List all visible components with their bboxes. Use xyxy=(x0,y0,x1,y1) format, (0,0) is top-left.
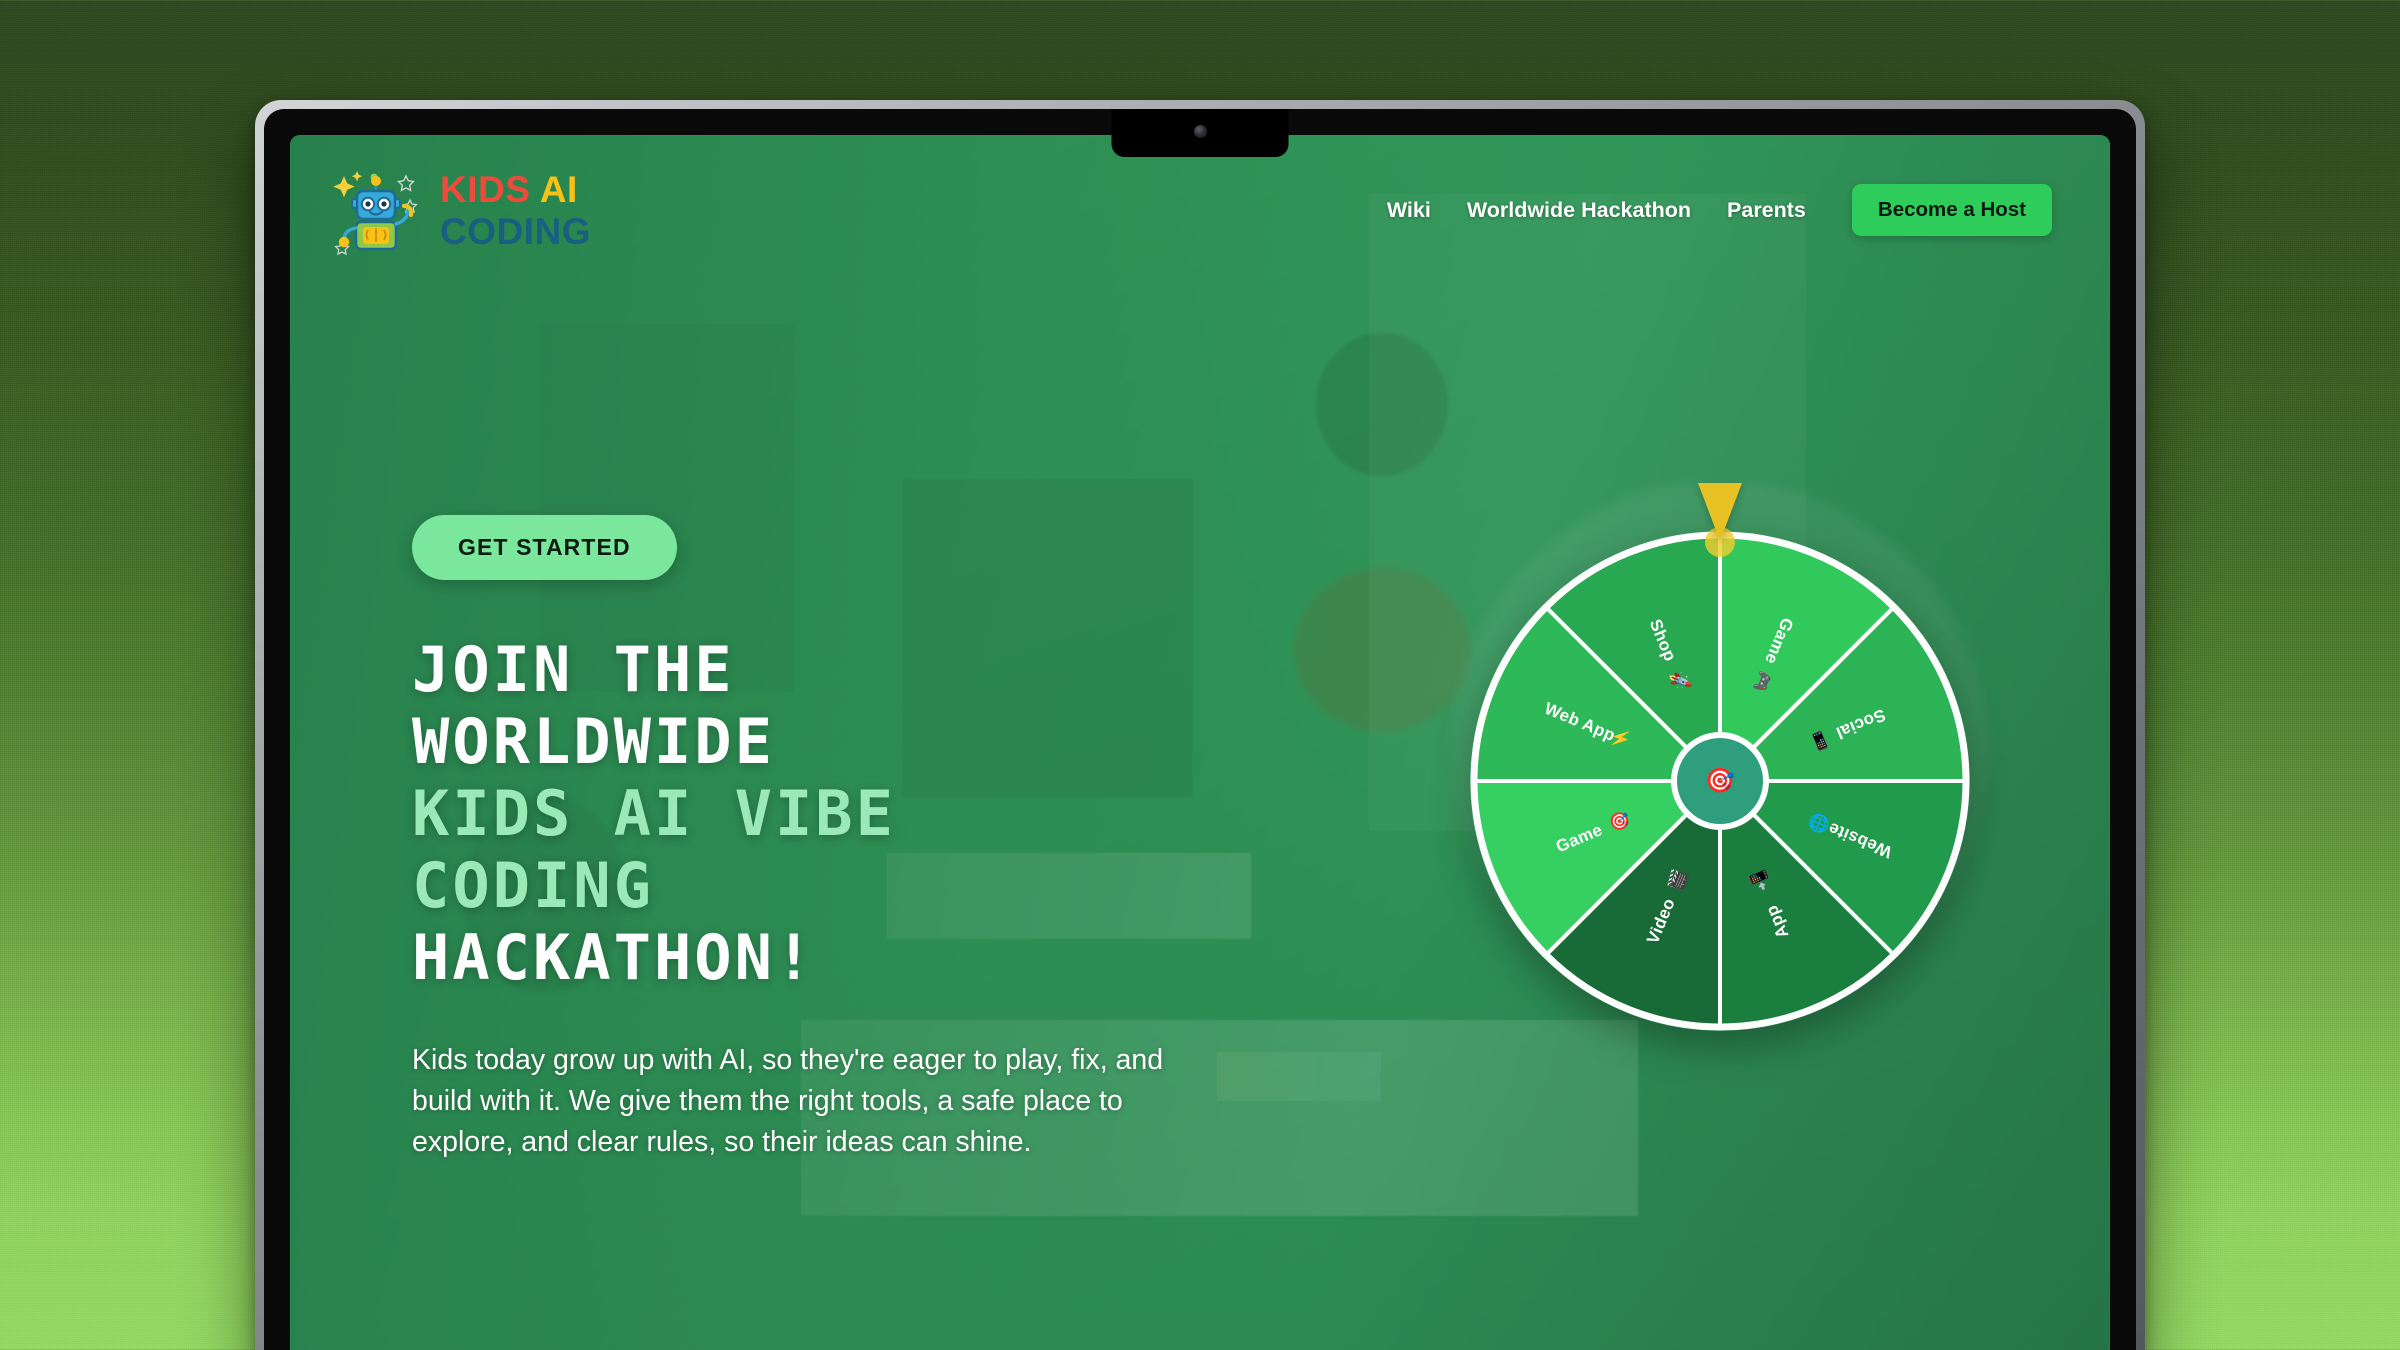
headline-line-1: JOIN THE xyxy=(412,634,1252,706)
project-type-spinner[interactable]: Game🎮Social📱Website🌐App📲Video🎬Game🎯Web A… xyxy=(1470,487,1970,987)
laptop-device-mockup: KIDS AI CODING Wiki Worldwide Hackathon … xyxy=(255,100,2145,1350)
brand-logo[interactable]: KIDS AI CODING xyxy=(330,162,591,258)
wheel-graphic[interactable]: Game🎮Social📱Website🌐App📲Video🎬Game🎯Web A… xyxy=(1470,531,1970,1031)
brand-line-1: KIDS AI xyxy=(440,171,591,208)
headline-line-2: WORLDWIDE xyxy=(412,706,1252,778)
headline-line-5: HACKATHON! xyxy=(412,922,1252,994)
hero-section: GET STARTED JOIN THE WORLDWIDE KIDS AI V… xyxy=(412,515,1252,1163)
webcam-icon xyxy=(1194,125,1207,138)
laptop-bezel: KIDS AI CODING Wiki Worldwide Hackathon … xyxy=(264,109,2136,1350)
become-a-host-button[interactable]: Become a Host xyxy=(1852,184,2052,236)
brand-kids-text: KIDS xyxy=(440,169,530,210)
laptop-notch xyxy=(1112,109,1289,157)
page-title: JOIN THE WORLDWIDE KIDS AI VIBE CODING H… xyxy=(412,634,1252,994)
headline-line-4: CODING xyxy=(412,850,1252,922)
target-icon: 🎯 xyxy=(1705,768,1735,795)
nav-link-wiki[interactable]: Wiki xyxy=(1387,198,1431,223)
spinner-wheel[interactable]: Game🎮Social📱Website🌐App📲Video🎬Game🎯Web A… xyxy=(1470,531,1970,1031)
primary-navigation: Wiki Worldwide Hackathon Parents Become … xyxy=(1387,184,2052,236)
headline-line-3: KIDS AI VIBE xyxy=(412,778,1252,850)
robot-mascot-icon xyxy=(330,162,422,258)
site-header: KIDS AI CODING Wiki Worldwide Hackathon … xyxy=(290,135,2110,285)
wheel-pointer-icon xyxy=(1698,483,1742,541)
brand-ai-text: AI xyxy=(540,169,578,210)
brand-line-2: CODING xyxy=(440,213,591,250)
screen: KIDS AI CODING Wiki Worldwide Hackathon … xyxy=(290,135,2110,1350)
get-started-button[interactable]: GET STARTED xyxy=(412,515,677,580)
laptop-lid: KIDS AI CODING Wiki Worldwide Hackathon … xyxy=(255,100,2145,1350)
nav-link-worldwide-hackathon[interactable]: Worldwide Hackathon xyxy=(1467,198,1691,223)
hero-paragraph: Kids today grow up with AI, so they're e… xyxy=(412,1040,1212,1163)
nav-link-parents[interactable]: Parents xyxy=(1727,198,1806,223)
